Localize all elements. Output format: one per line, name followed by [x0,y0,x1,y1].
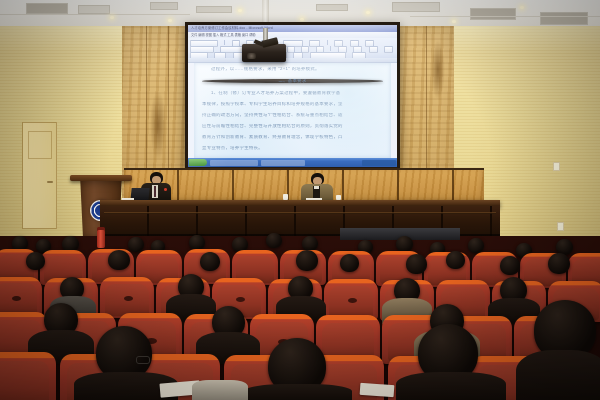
seat-fold-hinge [348,298,357,303]
audience-head [108,250,130,270]
seat-fold-hinge [12,296,21,301]
audience-head [500,256,520,275]
start-button[interactable] [189,159,207,166]
word-toolbar[interactable] [188,38,397,58]
audience-head [26,252,45,270]
document-text-line: 应性与前瞻性相结合、完整性与开放性相结合的原则，贯彻落实党的 [202,124,383,128]
document-page: 过程外，以……规格要求，采用 “2+1” 的培养模式。 二、基本要求 1、在制（… [194,63,391,158]
projection-screen: 人才培养方案修订工作会议材料.doc - Microsoft Word 文件 编… [185,22,400,170]
lapel-badge [164,188,167,191]
red-thermos [97,230,105,248]
eyeglasses-icon [136,356,150,364]
ceiling-vent [150,2,178,10]
taskbar-item[interactable] [261,160,305,166]
audience-shoulders [516,350,600,400]
ceiling-projector [242,44,286,62]
document-text-line: 过程外，以……规格要求，采用 “2+1” 的培养模式。 [202,67,383,71]
downlight [238,9,242,12]
downlight [366,11,370,14]
audience-head [266,233,282,248]
ceiling-vent [26,3,68,14]
word-title-bar: 人才培养方案修订工作会议材料.doc - Microsoft Word [188,25,397,32]
audience-shoulders [244,384,352,400]
system-tray[interactable] [362,160,396,166]
seat-fold-hinge [124,296,133,301]
toolbar-separator [327,40,328,45]
head-table-trim [104,212,496,214]
audience-head [340,254,359,272]
ceiling-vent [316,4,348,11]
taskbar-item[interactable] [210,160,258,166]
wood-grain-knot [431,40,445,100]
wall-outlet [557,222,564,231]
ceiling-seam [0,14,190,15]
ceiling-vent [392,2,440,12]
ceiling-vent [196,6,232,13]
downlight [520,6,524,9]
ceiling-vent [470,8,516,20]
downlight [300,18,304,21]
downlight [168,19,172,22]
screen-surface: 人才培养方案修订工作会议材料.doc - Microsoft Word 文件 编… [188,25,397,167]
projector-lens-icon [247,53,256,59]
document-text-line: 持正确的政治方向，坚持共性与个性相结合、系统与重点相结合、适 [202,113,383,117]
audience-head [446,251,465,269]
seat-fold-hinge [236,297,245,302]
audience-head [296,250,318,271]
audience-head [468,238,484,253]
audience-head [548,253,570,274]
door-handle[interactable] [47,181,53,183]
toolbar-separator [330,46,331,51]
ceiling-vent [540,12,588,25]
windows-taskbar[interactable] [188,158,397,167]
necktie [154,186,156,197]
ceiling-vent [78,5,110,14]
audience-shoulders [396,372,506,400]
document-text-line: 教育方针和创新教育、素质教育、终身教育理念，体现学校特色，凸 [202,135,383,139]
downlight [452,20,456,23]
audience-head [200,252,220,271]
ceiling-seam [410,16,600,17]
audience-shoulders [192,380,248,400]
downlight [110,16,114,19]
wall-outlet [553,162,560,171]
audience-head [302,236,318,251]
audience-head [396,236,413,252]
seat[interactable] [0,277,42,317]
lecture-hall-photo: 人才培养方案修订工作会议材料.doc - Microsoft Word 文件 编… [0,0,600,400]
collar [314,186,319,189]
side-door[interactable] [22,122,57,229]
document-text-line: 本规律，按照学校本、专科学生培养目标和培养规格的基本要求，坚 [202,102,383,106]
speaker-podium[interactable] [70,175,132,181]
door-panel [28,131,52,159]
document-text-line: 显专业特点，培养学生特长。 [202,146,383,150]
audience-head [128,237,144,252]
audience-head [189,235,205,250]
document-text-line: 1、在制（修）订专业人才培养方案过程中，要遵循教育教学基 [202,91,383,95]
wood-grain-knot [150,90,166,160]
notebook [360,383,395,397]
seat[interactable] [0,352,56,400]
document-heading: 二、基本要求 [202,79,383,83]
toolbar-separator [224,40,225,45]
audience-head [406,254,427,274]
